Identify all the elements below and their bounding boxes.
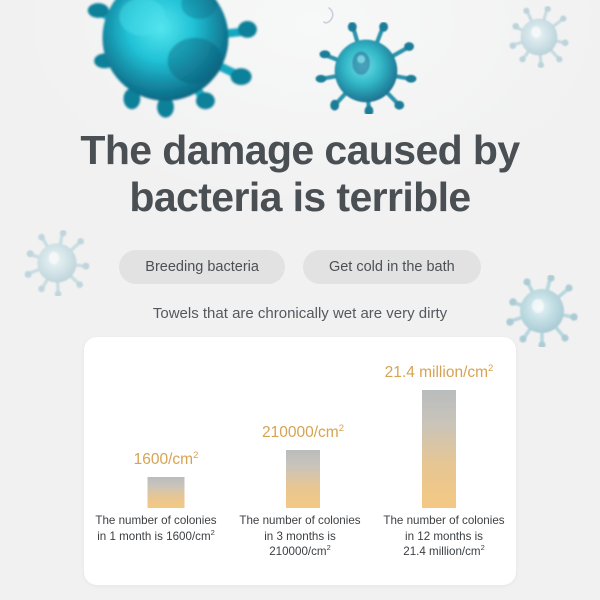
bar-value-label-12-months: 21.4 million/cm2 (385, 364, 494, 382)
tag-pill-row: Breeding bacteria Get cold in the bath (0, 250, 600, 284)
bar-value-label-3-months: 210000/cm2 (262, 424, 344, 442)
infographic-root: The damage caused by bacteria is terribl… (0, 0, 600, 600)
chart-card: 1600/cm2 210000/cm2 21.4 million/cm2 The… (84, 337, 516, 585)
bar-value-label-1-month: 1600/cm2 (134, 451, 199, 469)
bar-caption-1-month: The number of colonies in 1 month is 160… (84, 513, 228, 560)
virus-tiny-icon (318, 6, 340, 28)
virus-top-right-icon (508, 6, 570, 68)
page-title-line-1: The damage caused by (0, 127, 600, 174)
virus-large-icon (58, 0, 273, 126)
bar-caption-12-months: The number of colonies in 12 months is 2… (372, 513, 516, 560)
bar-column-1-month: 1600/cm2 (102, 337, 230, 508)
bar-caption-3-months: The number of colonies in 3 months is 21… (228, 513, 372, 560)
bar-column-12-months: 21.4 million/cm2 (375, 337, 503, 508)
bar-column-3-months: 210000/cm2 (239, 337, 367, 508)
bar-caption-row: The number of colonies in 1 month is 160… (84, 513, 516, 560)
bar-1-month (148, 477, 185, 508)
virus-medium-icon (312, 22, 420, 114)
page-title: The damage caused by bacteria is terribl… (0, 127, 600, 221)
pill-get-cold-in-the-bath[interactable]: Get cold in the bath (303, 250, 481, 284)
page-title-line-2: bacteria is terrible (0, 174, 600, 221)
bar-3-months (286, 450, 320, 508)
chart-subtitle: Towels that are chronically wet are very… (0, 305, 600, 322)
pill-breeding-bacteria[interactable]: Breeding bacteria (119, 250, 285, 284)
bar-chart-plot: 1600/cm2 210000/cm2 21.4 million/cm2 (84, 337, 516, 508)
bar-12-months (422, 390, 456, 508)
